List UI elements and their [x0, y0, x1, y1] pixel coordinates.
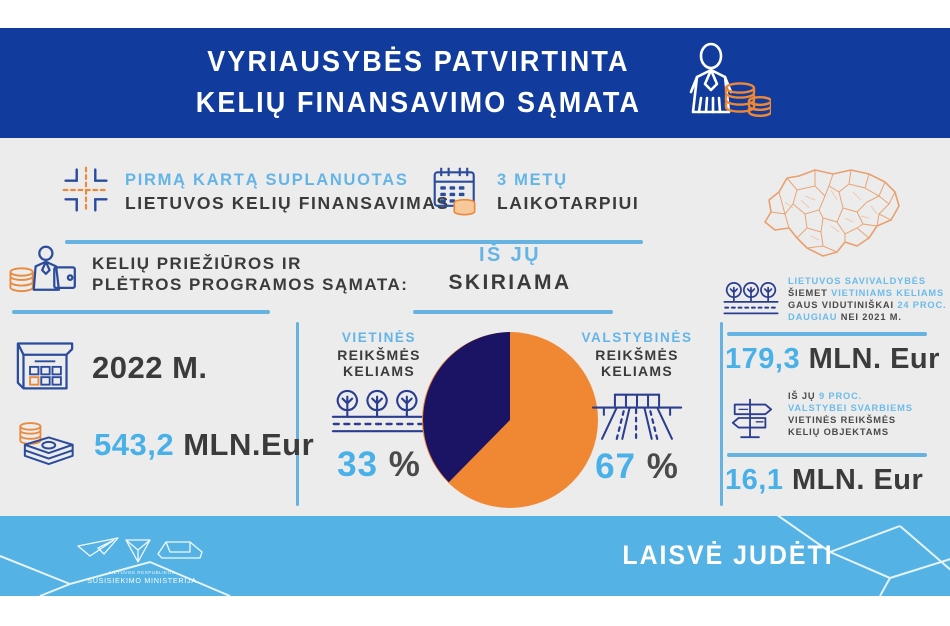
- top-highlights-row: PIRMĄ KARTĄ SUPLANUOTAS LIETUVOS KELIŲ F…: [0, 158, 720, 238]
- year-stat-row: 2022 M.: [12, 336, 208, 399]
- person-with-coins-icon: [679, 40, 771, 126]
- legend-right-line-1: VALSTYBINĖS: [562, 330, 712, 345]
- footer-bar: LIETUVOS RESPUBLIKOS SUSISIEKIMO MINISTE…: [0, 516, 950, 596]
- objects-value-number: 16,1: [725, 464, 783, 496]
- divider-center-column: [413, 310, 613, 314]
- calendar-coins-icon: [430, 164, 484, 221]
- left-column: KELIŲ PRIEŽIŪROS IR PLĖTROS PROGRAMOS SĄ…: [0, 244, 297, 516]
- divider-right-block-2: [727, 453, 927, 457]
- municipalities-line-1: LIETUVOS SAVIVALDYBĖS: [788, 276, 946, 288]
- allocation-heading: IŠ JŲ SKIRIAMA: [300, 244, 720, 295]
- footer-slogan: LAISVĖ JUDĖTI: [623, 540, 834, 571]
- page-title: VYRIAUSYBĖS PATVIRTINTA KELIŲ FINANSAVIM…: [179, 42, 658, 124]
- top-white-strip: [0, 0, 950, 28]
- legend-right-line-2: REIKŠMĖS KELIAMS: [562, 347, 712, 379]
- municipalities-value-number: 179,3: [725, 343, 800, 375]
- banknotes-coins-icon: [12, 414, 80, 475]
- legend-left-percent-symbol: %: [389, 445, 421, 484]
- highway-overpass-icon: [562, 387, 712, 441]
- person-coins-desk-icon: [6, 244, 82, 305]
- right-column: LIETUVOS SAVIVALDYBĖS ŠIEMET VIETINIAMS …: [723, 138, 950, 516]
- logo-line-2: SUSISIEKIMO MINISTERIJA: [87, 576, 197, 585]
- trees-road-icon: [723, 276, 779, 325]
- calendar-icon: [12, 336, 78, 399]
- important-objects-text: IŠ JŲ 9 PROC. VALSTYBEI SVARBIEMS VIETIN…: [788, 391, 913, 439]
- municipalities-text: LIETUVOS SAVIVALDYBĖS ŠIEMET VIETINIAMS …: [788, 276, 946, 324]
- transport-ministry-logo: LIETUVOS RESPUBLIKOS SUSISIEKIMO MINISTE…: [74, 532, 210, 588]
- header-bar: VYRIAUSYBĖS PATVIRTINTA KELIŲ FINANSAVIM…: [0, 28, 950, 138]
- legend-state-roads: VALSTYBINĖS REIKŠMĖS KELIAMS: [562, 330, 712, 487]
- objects-value-unit: MLN. Eur: [792, 464, 923, 496]
- divider-right-block-1: [727, 332, 927, 336]
- crossroads-icon: [60, 164, 112, 221]
- infographic-root: VYRIAUSYBĖS PATVIRTINTA KELIŲ FINANSAVIM…: [0, 0, 950, 626]
- main-content-area: PIRMĄ KARTĄ SUPLANUOTAS LIETUVOS KELIŲ F…: [0, 138, 950, 516]
- objects-line-3: VIETINĖS REIKŠMĖS: [788, 415, 913, 427]
- legend-right-percent-value: 67: [595, 447, 636, 486]
- highlight-2-line-2: LAIKOTARPIUI: [497, 193, 639, 214]
- objects-value: 16,1 MLN. Eur: [725, 464, 950, 497]
- signpost-icon: [723, 391, 779, 446]
- year-value: 2022 M.: [92, 350, 208, 386]
- logo-line-1: LIETUVOS RESPUBLIKOS: [109, 570, 175, 575]
- municipalities-line-3: GAUS VIDUTINIŠKAI 24 PROC.: [788, 300, 946, 312]
- highlight-2-line-1: 3 METŲ: [497, 171, 639, 191]
- highlight-1-line-1: PIRMĄ KARTĄ SUPLANUOTAS: [125, 171, 450, 191]
- highlight-three-year-period: 3 METŲ LAIKOTARPIUI: [430, 164, 639, 221]
- municipalities-block: LIETUVOS SAVIVALDYBĖS ŠIEMET VIETINIAMS …: [723, 276, 950, 376]
- legend-right-percent-symbol: %: [647, 447, 679, 486]
- amount-stat-row: 543,2 MLN.Eur: [12, 414, 314, 475]
- center-column: IŠ JŲ SKIRIAMA VIETINĖS REIKŠMĖS KELIAMS: [300, 244, 720, 516]
- legend-left-percent-value: 33: [337, 445, 378, 484]
- amount-value: 543,2 MLN.Eur: [94, 427, 314, 463]
- highlight-1-line-2: LIETUVOS KELIŲ FINANSAVIMAS: [125, 193, 450, 214]
- divider-left-column: [12, 310, 270, 314]
- municipalities-line-2: ŠIEMET VIETINIAMS KELIAMS: [788, 288, 946, 300]
- title-line-1: VYRIAUSYBĖS PATVIRTINTA: [195, 42, 640, 83]
- bottom-white-strip: [0, 596, 950, 626]
- objects-line-4: KELIŲ OBJEKTAMS: [788, 427, 913, 439]
- municipalities-line-4: DAUGIAU NEI 2021 M.: [788, 312, 946, 324]
- allocation-heading-line-1: IŠ JŲ: [300, 244, 720, 267]
- important-objects-block: IŠ JŲ 9 PROC. VALSTYBEI SVARBIEMS VIETIN…: [723, 391, 950, 497]
- municipalities-value: 179,3 MLN. Eur: [725, 343, 950, 376]
- objects-line-1: IŠ JŲ 9 PROC.: [788, 391, 913, 403]
- lithuania-road-map: [745, 156, 935, 264]
- highlight-first-time-planned: PIRMĄ KARTĄ SUPLANUOTAS LIETUVOS KELIŲ F…: [60, 164, 450, 221]
- amount-value-number: 543,2: [94, 427, 174, 462]
- objects-line-2: VALSTYBEI SVARBIEMS: [788, 403, 913, 415]
- municipalities-value-unit: MLN. Eur: [809, 343, 940, 375]
- legend-right-percent: 67 %: [562, 447, 712, 487]
- amount-value-unit: MLN.Eur: [183, 427, 314, 462]
- allocation-heading-line-2: SKIRIAMA: [300, 271, 720, 295]
- title-line-2: KELIŲ FINANSAVIMO SĄMATA: [195, 83, 640, 124]
